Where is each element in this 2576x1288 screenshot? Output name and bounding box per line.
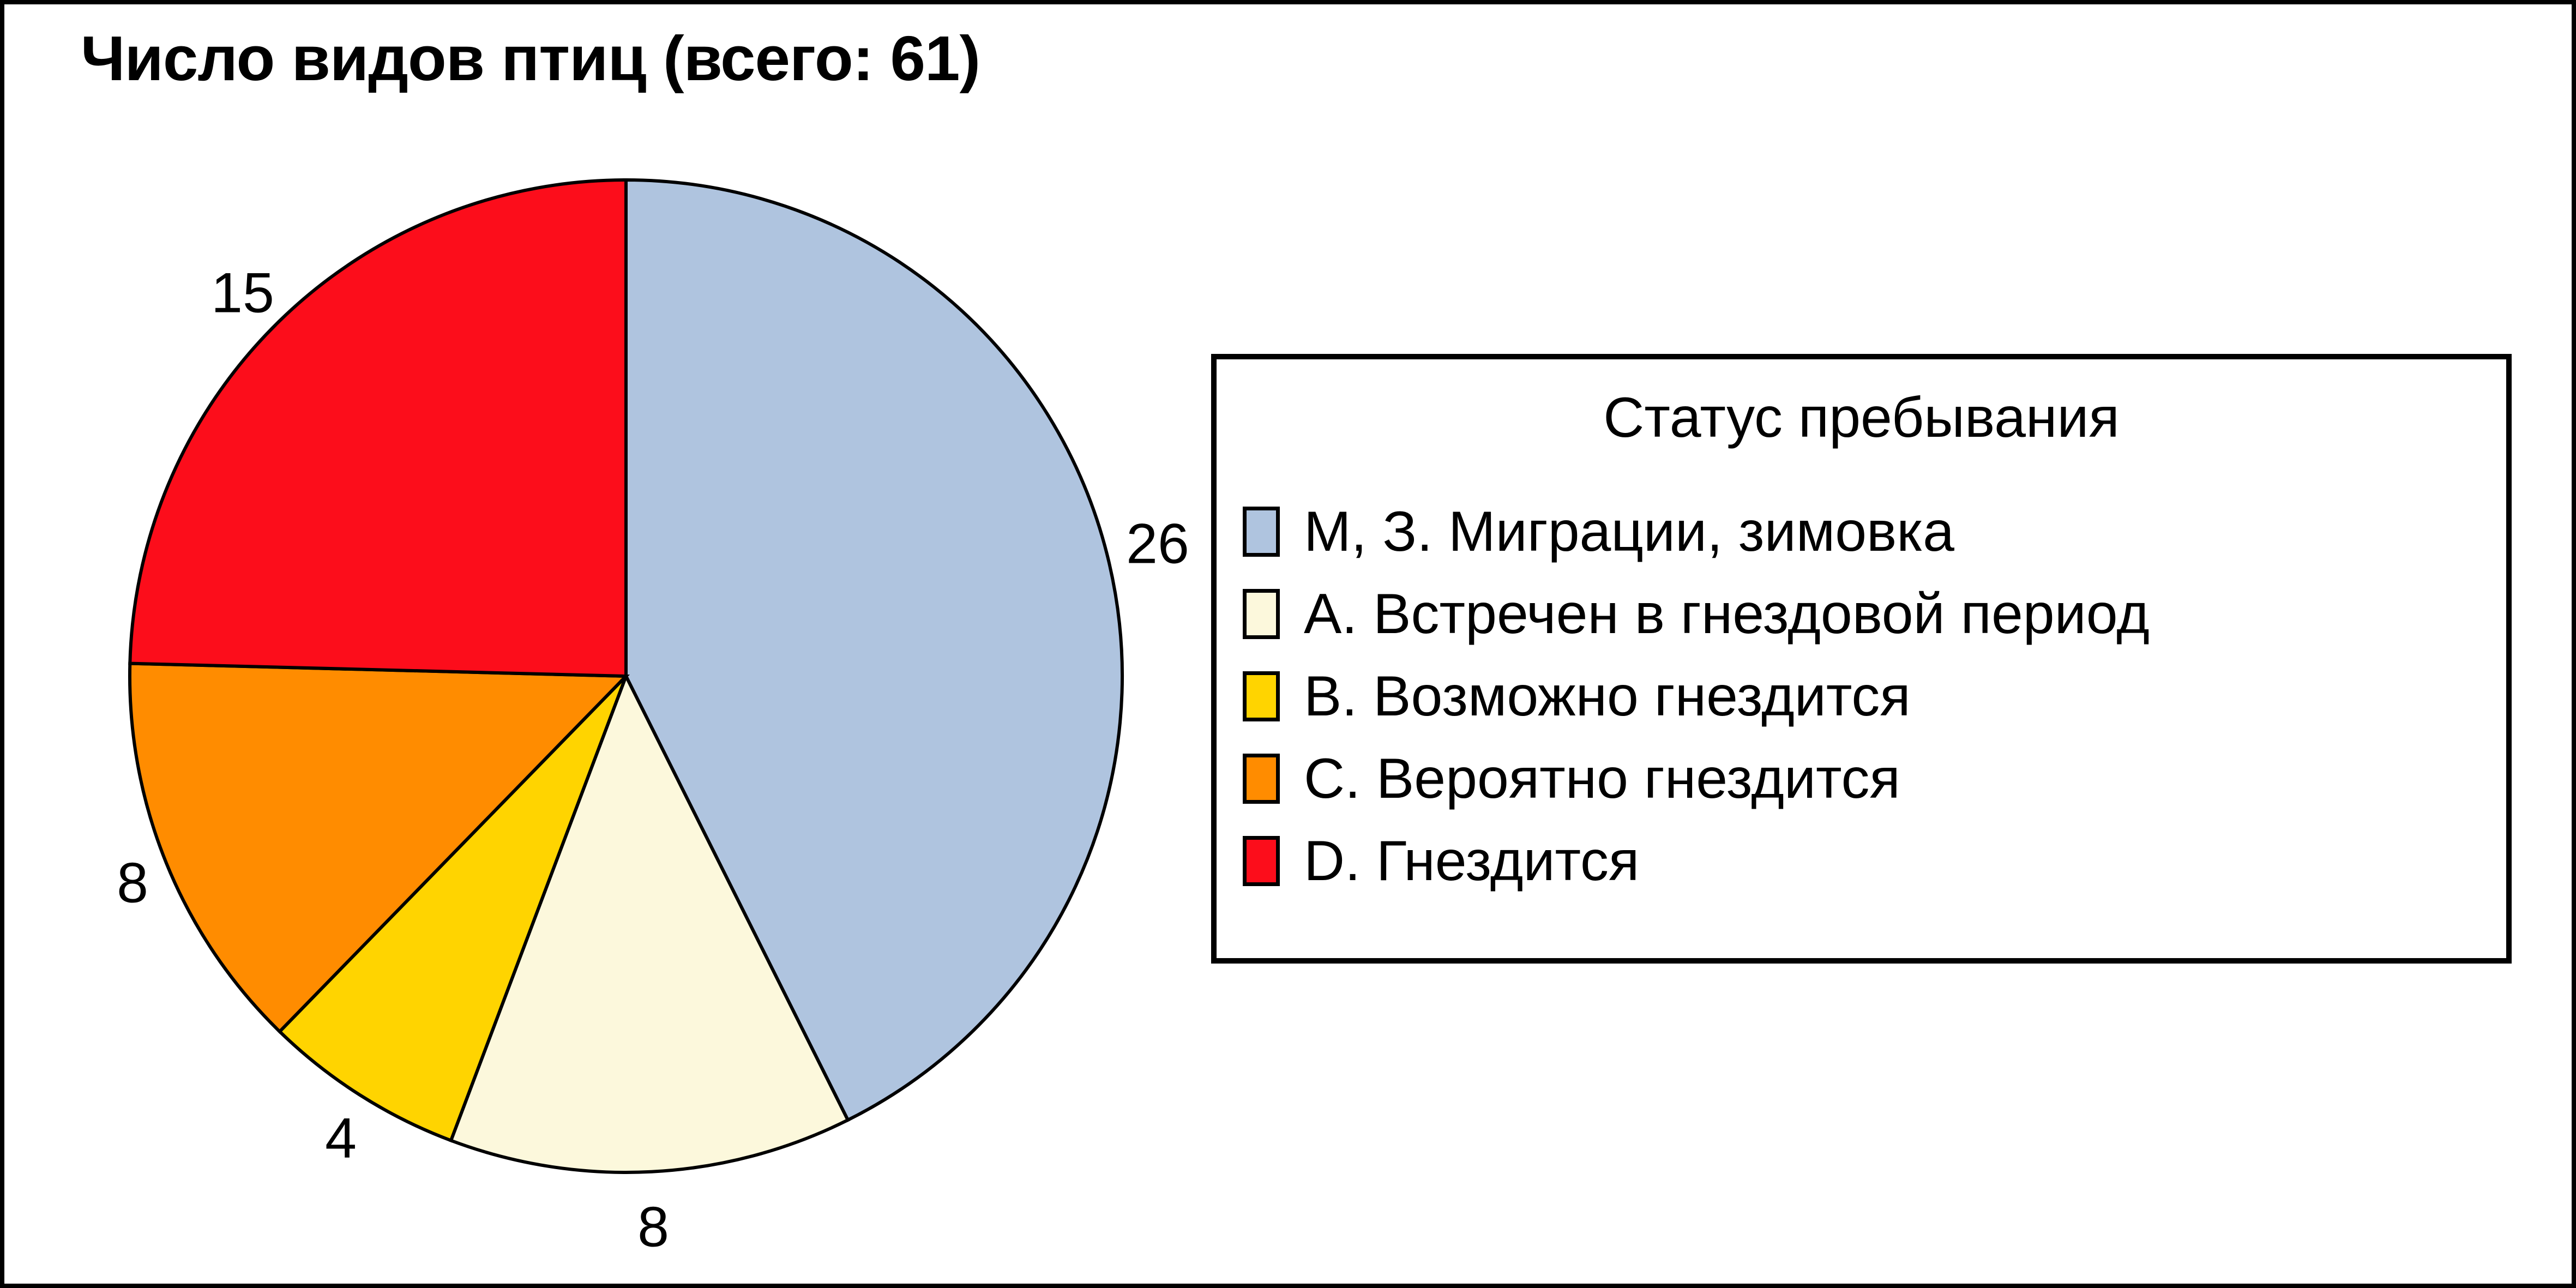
legend-swatch-icon	[1243, 754, 1280, 804]
pie-value-label-cream: 8	[637, 1195, 669, 1260]
pie-chart-area: 26 8 4 8 15	[4, 4, 1259, 1288]
legend-swatch-icon	[1243, 671, 1280, 721]
pie-value-label-orange: 8	[117, 851, 148, 916]
legend-swatch-icon	[1243, 507, 1280, 557]
legend-item[interactable]: A. Встречен в гнездовой период	[1243, 573, 2506, 655]
legend-item-label: D. Гнездится	[1304, 833, 1639, 889]
pie-chart-svg	[4, 4, 1259, 1288]
legend-swatch-icon	[1243, 836, 1280, 886]
pie-slices	[130, 180, 1122, 1172]
legend: Статус пребывания M, З. Миграции, зимовк…	[1211, 354, 2512, 964]
pie-value-label-red: 15	[211, 261, 274, 326]
legend-swatch-icon	[1243, 589, 1280, 639]
legend-item-label: C. Вероятно гнездится	[1304, 750, 1900, 807]
legend-item-list: M, З. Миграции, зимовкаA. Встречен в гне…	[1243, 490, 2506, 902]
pie-slice[interactable]	[130, 180, 626, 676]
legend-item[interactable]: C. Вероятно гнездится	[1243, 737, 2506, 820]
legend-item[interactable]: M, З. Миграции, зимовка	[1243, 490, 2506, 573]
legend-title: Статус пребывания	[1217, 386, 2506, 450]
chart-canvas: Число видов птиц (всего: 61) 26 8 4 8 15…	[0, 0, 2576, 1288]
pie-value-label-gold: 4	[325, 1106, 357, 1171]
legend-item[interactable]: D. Гнездится	[1243, 820, 2506, 902]
legend-item-label: M, З. Миграции, зимовка	[1304, 503, 1954, 560]
pie-value-label-blue: 26	[1126, 512, 1189, 577]
legend-item-label: A. Встречен в гнездовой период	[1304, 586, 2150, 642]
legend-item-label: B. Возможно гнездится	[1304, 668, 1911, 725]
legend-item[interactable]: B. Возможно гнездится	[1243, 655, 2506, 737]
